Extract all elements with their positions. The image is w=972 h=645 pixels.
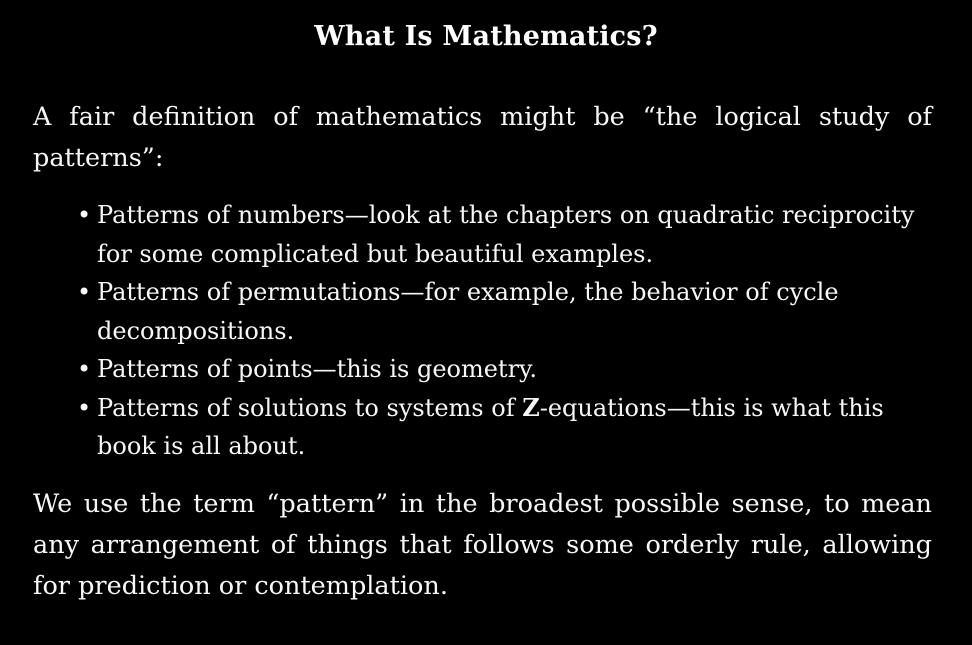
list-item: • Patterns of points—this is geometry. <box>77 350 937 389</box>
list-item-label: Patterns of points—this is geometry. <box>97 350 937 389</box>
z-symbol: Z <box>522 393 540 422</box>
closing-paragraph-block: We use the term “pattern” in the broades… <box>33 484 932 607</box>
page-title: What Is Mathematics? <box>0 20 972 54</box>
list-item-label: Patterns of numbers—look at the chapters… <box>97 196 937 273</box>
bullet-dot-icon: • <box>77 196 91 235</box>
list-item-label: Patterns of solutions to systems of Z-eq… <box>97 389 937 466</box>
bullet-dot-icon: • <box>77 350 91 389</box>
closing-paragraph-text: We use the term “pattern” in the broades… <box>33 484 932 607</box>
list-item-label: Patterns of permutations—for example, th… <box>97 273 937 350</box>
list-item-label-prefix: Patterns of solutions to systems of <box>97 394 522 422</box>
bullet-list: • Patterns of numbers—look at the chapte… <box>77 196 937 466</box>
intro-paragraph-block: A fair definition of mathematics might b… <box>33 97 932 179</box>
bullet-dot-icon: • <box>77 273 91 312</box>
bullet-dot-icon: • <box>77 389 91 428</box>
list-item: • Patterns of numbers—look at the chapte… <box>77 196 937 273</box>
list-item: • Patterns of solutions to systems of Z-… <box>77 389 937 466</box>
intro-paragraph-text: A fair definition of mathematics might b… <box>33 97 932 179</box>
bullet-list-block: • Patterns of numbers—look at the chapte… <box>77 196 937 466</box>
slide-canvas: What Is Mathematics? A fair definition o… <box>0 0 972 645</box>
list-item: • Patterns of permutations—for example, … <box>77 273 937 350</box>
